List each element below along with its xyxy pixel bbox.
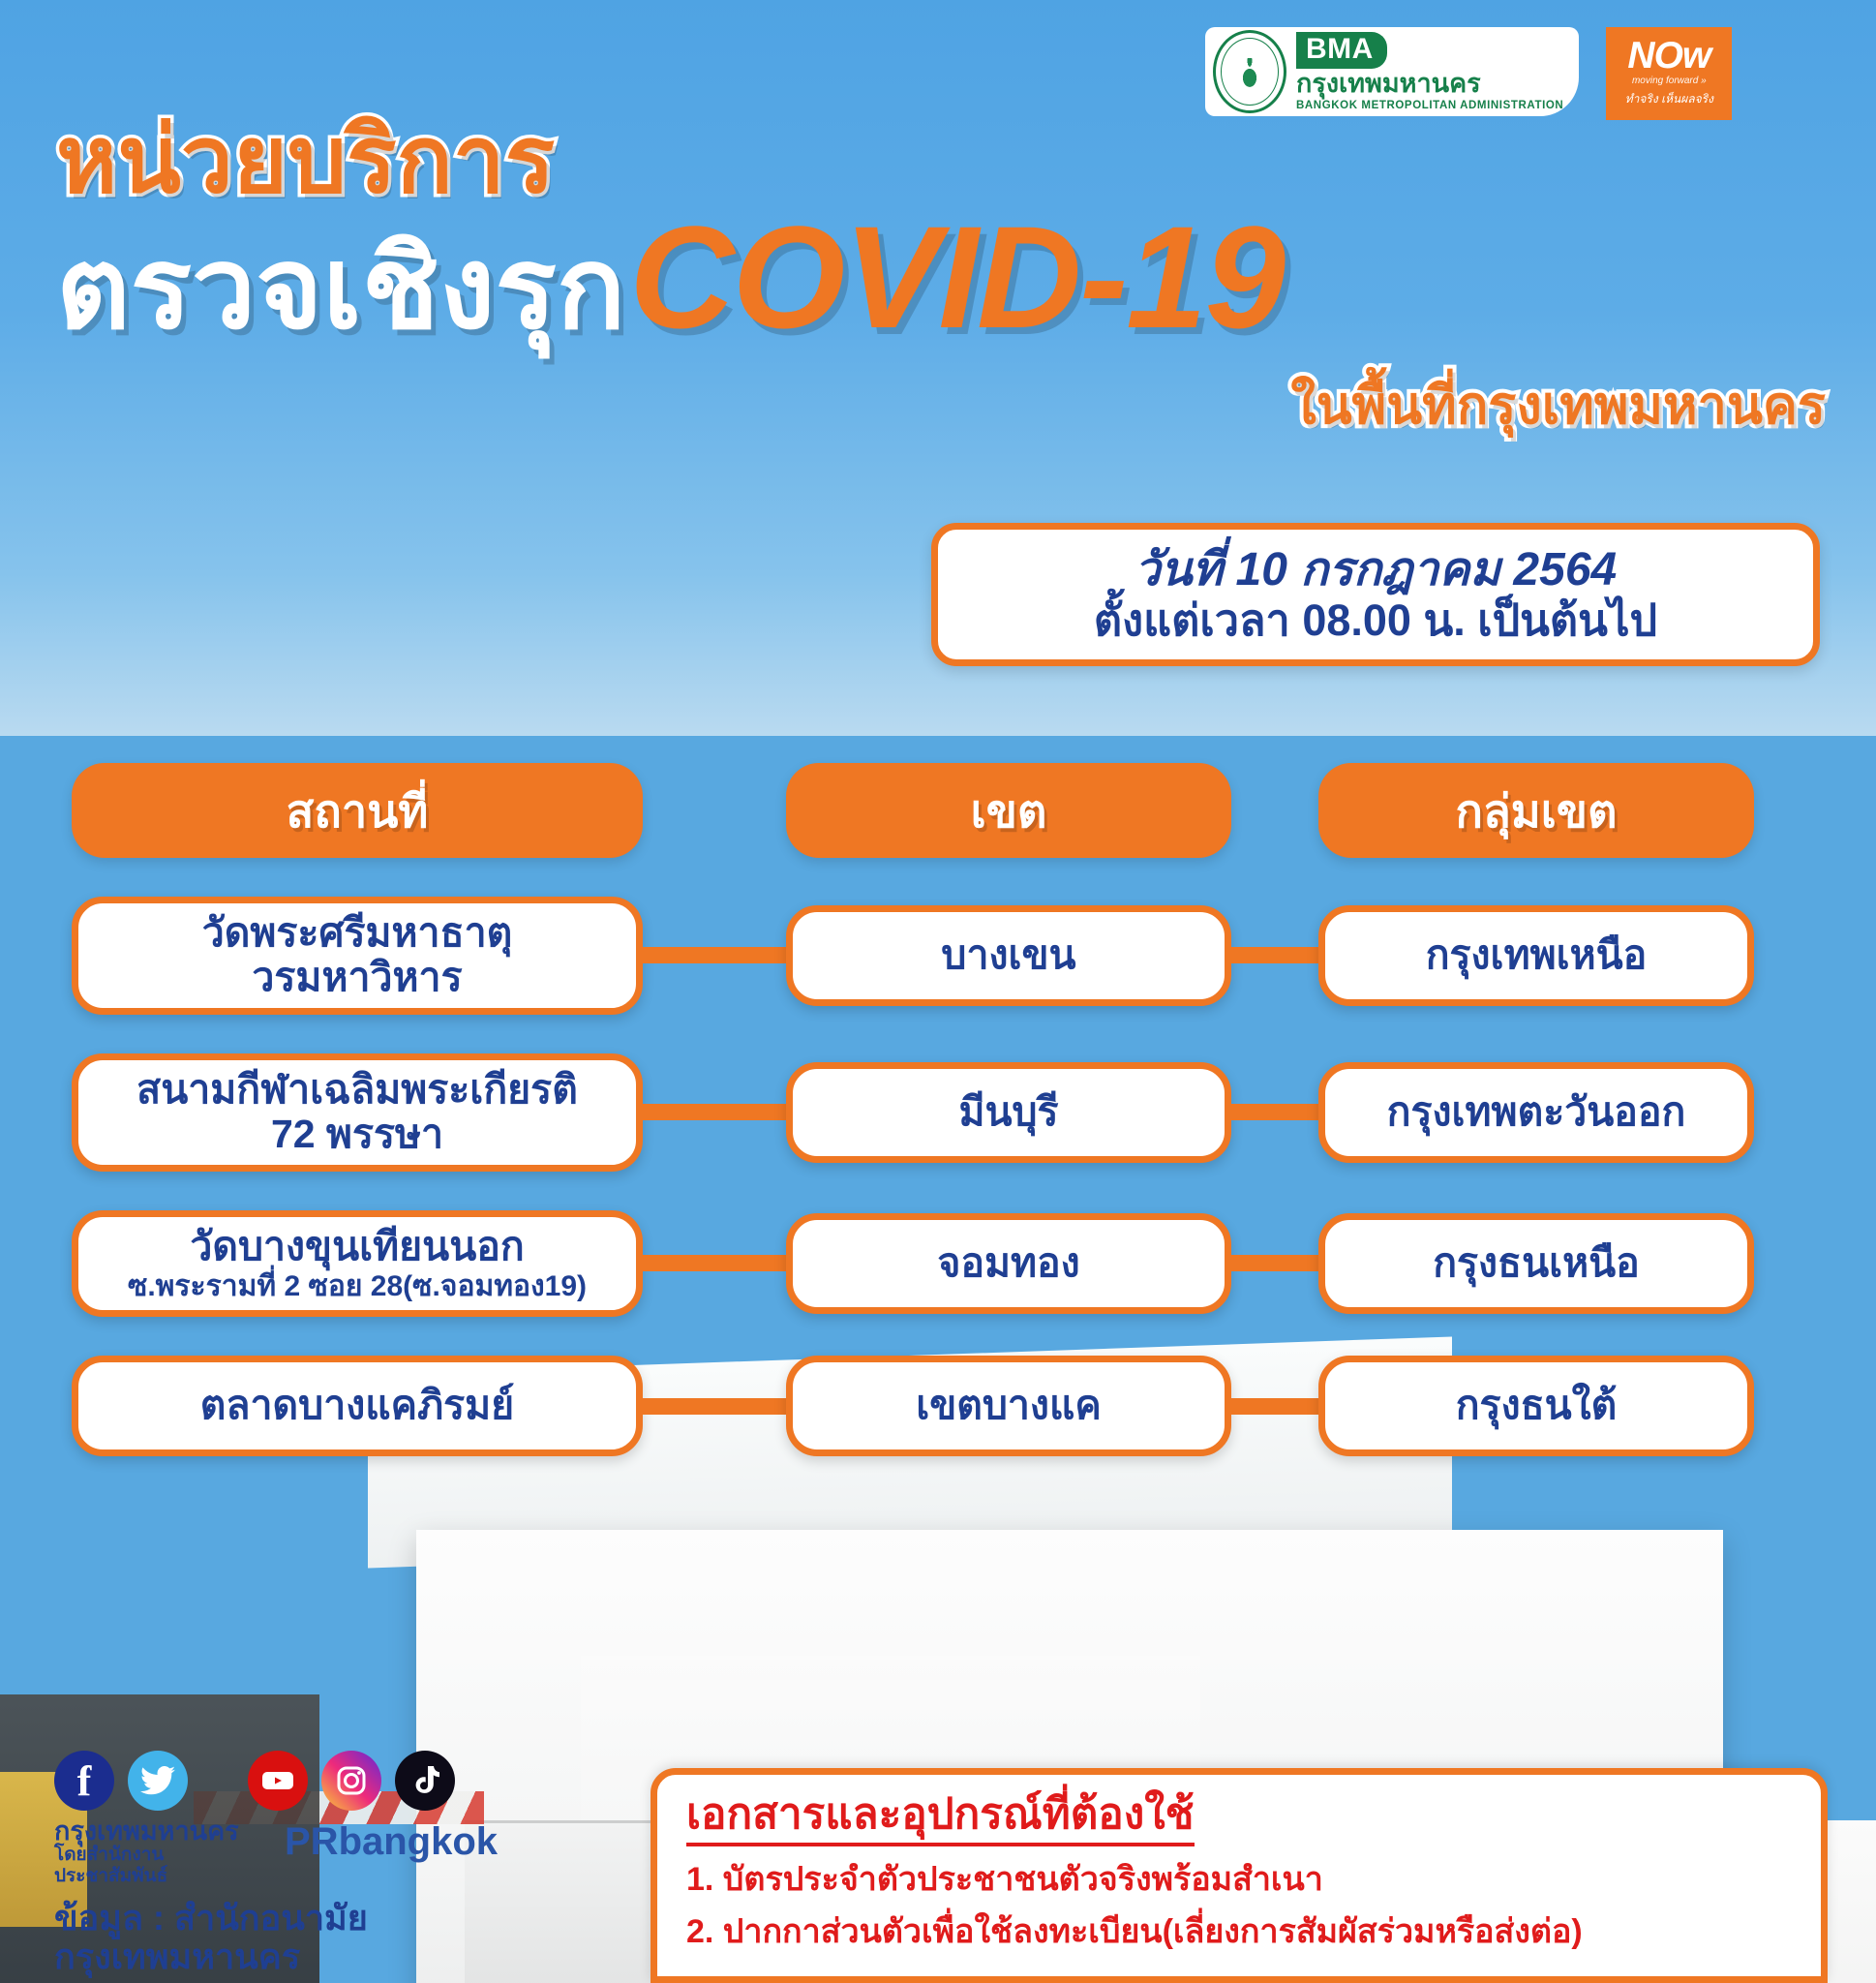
column-header-place: สถานที่	[72, 763, 643, 858]
cell-district: บางเขน	[786, 905, 1231, 1006]
title-thai-word: ตรวจเชิงรุก	[56, 234, 625, 343]
social-icons-row: f	[54, 1751, 596, 1811]
now-logo: NOw moving forward » ทำจริง เห็นผลจริง	[1606, 27, 1732, 120]
place-name-line2: 72 พรรษา	[271, 1113, 443, 1157]
requirement-item-2: 2. ปากกาส่วนตัวเพื่อใช้ลงทะเบียน(เลี่ยงก…	[686, 1912, 1792, 1951]
title-subtitle: ในพื้นที่กรุงเทพมหานคร	[1290, 363, 1826, 446]
twitter-icon[interactable]	[128, 1751, 188, 1811]
cell-place: สนามกีฬาเฉลิมพระเกียรติ 72 พรรษา	[72, 1053, 643, 1172]
row-connector-right	[1231, 1398, 1318, 1415]
table-row: ตลาดบางแคภิรมย์ เขตบางแค กรุงธนใต้	[0, 1356, 1876, 1456]
cell-place: วัดบางขุนเทียนนอก ซ.พระรามที่ 2 ซอย 28(ซ…	[72, 1210, 643, 1318]
place-name-line1: สนามกีฬาเฉลิมพระเกียรติ	[136, 1068, 578, 1113]
title-line-1: หน่วยบริการ	[56, 116, 1828, 204]
now-wordmark: NOw	[1627, 39, 1710, 73]
date-line-1: วันที่ 10 กรกฎาคม 2564	[1135, 545, 1617, 595]
title-covid-word: COVID-19	[629, 212, 1284, 343]
district-name: เขตบางแค	[916, 1384, 1102, 1428]
social-labels: กรุงเทพมหานคร โดยสำนักงานประชาสัมพันธ์ P…	[54, 1817, 596, 1887]
group-name: กรุงธนเหนือ	[1433, 1241, 1640, 1286]
youtube-icon[interactable]	[248, 1751, 308, 1811]
place-name-line1: วัดพระศรีมหาธาตุ	[202, 911, 513, 956]
table-row: วัดพระศรีมหาธาตุ วรมหาวิหาร บางเขน กรุงเ…	[0, 897, 1876, 1015]
requirement-item-1: 1. บัตรประจำตัวประชาชนตัวจริงพร้อมสำเนา	[686, 1860, 1792, 1899]
tiktok-icon[interactable]	[395, 1751, 455, 1811]
now-tagline-th: ทำจริง เห็นผลจริง	[1625, 90, 1713, 108]
logo-row: BMA กรุงเทพมหานคร BANGKOK METROPOLITAN A…	[1205, 27, 1732, 120]
row-connector-left	[643, 1398, 786, 1415]
cell-group: กรุงธนเหนือ	[1318, 1213, 1754, 1314]
group-name: กรุงเทพเหนือ	[1426, 933, 1648, 978]
cell-district: เขตบางแค	[786, 1356, 1231, 1456]
cell-group: กรุงธนใต้	[1318, 1356, 1754, 1456]
pr-handle: PRbangkok	[285, 1820, 498, 1864]
cell-district: มีนบุรี	[786, 1062, 1231, 1163]
cell-place: ตลาดบางแคภิรมย์	[72, 1356, 643, 1456]
place-name-line1: ตลาดบางแคภิรมย์	[200, 1384, 514, 1428]
requirements-box: เอกสารและอุปกรณ์ที่ต้องใช้ 1. บัตรประจำต…	[651, 1768, 1828, 1983]
group-name: กรุงธนใต้	[1456, 1384, 1618, 1428]
district-name: มีนบุรี	[958, 1090, 1058, 1135]
data-source: ข้อมูล : สำนักอนามัย กรุงเทพมหานคร	[54, 1899, 596, 1975]
row-connector-right	[1231, 1104, 1318, 1120]
poster-root: BMA กรุงเทพมหานคร BANGKOK METROPOLITAN A…	[0, 0, 1876, 1983]
title-block: หน่วยบริการ ตรวจเชิงรุก COVID-19	[56, 116, 1828, 343]
service-table: สถานที่ เขต กลุ่มเขต วัดพระศรีมหาธาตุ วร…	[0, 763, 1876, 1456]
social-footer: f กรุงเทพมหานคร โดยสำนักงานประชาสัมพันธ์…	[54, 1751, 596, 1975]
row-connector-right	[1231, 1255, 1318, 1271]
date-box: วันที่ 10 กรกฎาคม 2564 ตั้งแต่เวลา 08.00…	[931, 523, 1820, 666]
cell-district: จอมทอง	[786, 1213, 1231, 1314]
instagram-icon[interactable]	[321, 1751, 381, 1811]
bma-logo: BMA กรุงเทพมหานคร BANGKOK METROPOLITAN A…	[1205, 27, 1579, 116]
title-line-2: ตรวจเชิงรุก COVID-19	[56, 212, 1828, 343]
table-row: สนามกีฬาเฉลิมพระเกียรติ 72 พรรษา มีนบุรี…	[0, 1053, 1876, 1172]
table-header-row: สถานที่ เขต กลุ่มเขต	[0, 763, 1876, 858]
account-name-line2: โดยสำนักงานประชาสัมพันธ์	[54, 1845, 238, 1887]
row-connector-left	[643, 947, 786, 963]
cell-group: กรุงเทพตะวันออก	[1318, 1062, 1754, 1163]
column-header-group: กลุ่มเขต	[1318, 763, 1754, 858]
date-line-2: ตั้งแต่เวลา 08.00 น. เป็นต้นไป	[1094, 597, 1657, 645]
district-name: จอมทอง	[937, 1241, 1079, 1286]
column-header-district: เขต	[786, 763, 1231, 858]
account-name-line1: กรุงเทพมหานคร	[54, 1817, 238, 1845]
bma-abbreviation: BMA	[1296, 32, 1387, 69]
place-name-line1: วัดบางขุนเทียนนอก	[190, 1225, 524, 1269]
requirements-title: เอกสารและอุปกรณ์ที่ต้องใช้	[686, 1792, 1195, 1846]
place-address-sub: ซ.พระรามที่ 2 ซอย 28(ซ.จอมทอง19)	[128, 1270, 587, 1303]
district-name: บางเขน	[941, 933, 1075, 978]
bma-thai-name: กรุงเทพมหานคร	[1296, 70, 1563, 99]
cell-group: กรุงเทพเหนือ	[1318, 905, 1754, 1006]
row-connector-right	[1231, 947, 1318, 963]
facebook-icon[interactable]: f	[54, 1751, 114, 1811]
bma-seal-icon	[1213, 30, 1286, 113]
table-row: วัดบางขุนเทียนนอก ซ.พระรามที่ 2 ซอย 28(ซ…	[0, 1210, 1876, 1318]
cell-place: วัดพระศรีมหาธาตุ วรมหาวิหาร	[72, 897, 643, 1015]
row-connector-left	[643, 1104, 786, 1120]
row-connector-left	[643, 1255, 786, 1271]
bma-english-name: BANGKOK METROPOLITAN ADMINISTRATION	[1296, 100, 1563, 111]
bma-logo-text: BMA กรุงเทพมหานคร BANGKOK METROPOLITAN A…	[1296, 32, 1563, 111]
place-name-line2: วรมหาวิหาร	[252, 956, 462, 1000]
now-tagline-en: moving forward »	[1632, 76, 1707, 86]
bma-account-label: กรุงเทพมหานคร โดยสำนักงานประชาสัมพันธ์	[54, 1817, 238, 1887]
group-name: กรุงเทพตะวันออก	[1387, 1090, 1686, 1135]
